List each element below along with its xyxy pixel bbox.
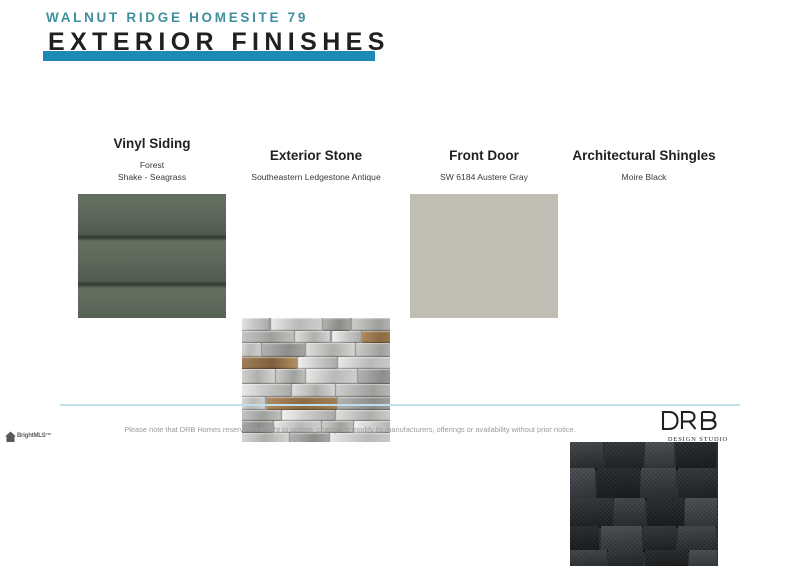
shingle-row: [570, 442, 718, 468]
stone-row: [242, 331, 390, 343]
finish-detail-line-2: Shake - Seagrass: [70, 172, 234, 184]
swatch-exterior-stone: [242, 318, 390, 442]
stone-row: [242, 369, 390, 384]
finishes-grid: Vinyl Siding Forest Shake - Seagrass Ext…: [0, 0, 800, 450]
finish-title: Vinyl Siding: [70, 136, 234, 152]
finish-title: Architectural Shingles: [562, 148, 726, 164]
shingle-row: [570, 498, 718, 526]
stone-row: [242, 343, 390, 357]
finish-title: Exterior Stone: [234, 148, 398, 164]
swatch-vinyl-siding: [78, 194, 226, 318]
swatch-architectural-shingles: [570, 442, 718, 566]
finish-detail-line-1: Forest: [70, 160, 234, 172]
swatch-front-door: [410, 194, 558, 318]
drb-design-studio-logo: DESIGN STUDIO: [660, 410, 736, 442]
shingle-row: [570, 550, 718, 566]
drb-logo-subtitle: DESIGN STUDIO: [660, 436, 736, 444]
footer-divider: [60, 404, 740, 406]
mls-watermark: BrightMLS™: [4, 428, 56, 444]
finish-card-exterior-stone: Exterior Stone Southeastern Ledgestone A…: [234, 148, 398, 184]
finish-detail-line-1: Moire Black: [562, 172, 726, 184]
shingle-row: [570, 468, 718, 498]
finish-title: Front Door: [402, 148, 566, 164]
stone-row: [242, 410, 390, 421]
finish-card-vinyl-siding: Vinyl Siding Forest Shake - Seagrass: [70, 136, 234, 183]
drb-wordmark-icon: [660, 410, 722, 431]
mls-watermark-label: BrightMLS™: [17, 433, 51, 439]
stone-row: [242, 384, 390, 397]
shingle-row: [570, 526, 718, 550]
finish-detail-line-1: Southeastern Ledgestone Antique: [234, 172, 398, 184]
finish-detail-line-1: SW 6184 Austere Gray: [402, 172, 566, 184]
finish-card-front-door: Front Door SW 6184 Austere Gray: [402, 148, 566, 184]
disclaimer-text: Please note that DRB Homes reserves the …: [60, 425, 640, 435]
stone-row: [242, 318, 390, 331]
finish-card-architectural-shingles: Architectural Shingles Moire Black: [562, 148, 726, 184]
page-title: EXTERIOR FINISHES: [48, 28, 390, 57]
stone-row: [242, 357, 390, 369]
house-icon: [4, 430, 17, 443]
